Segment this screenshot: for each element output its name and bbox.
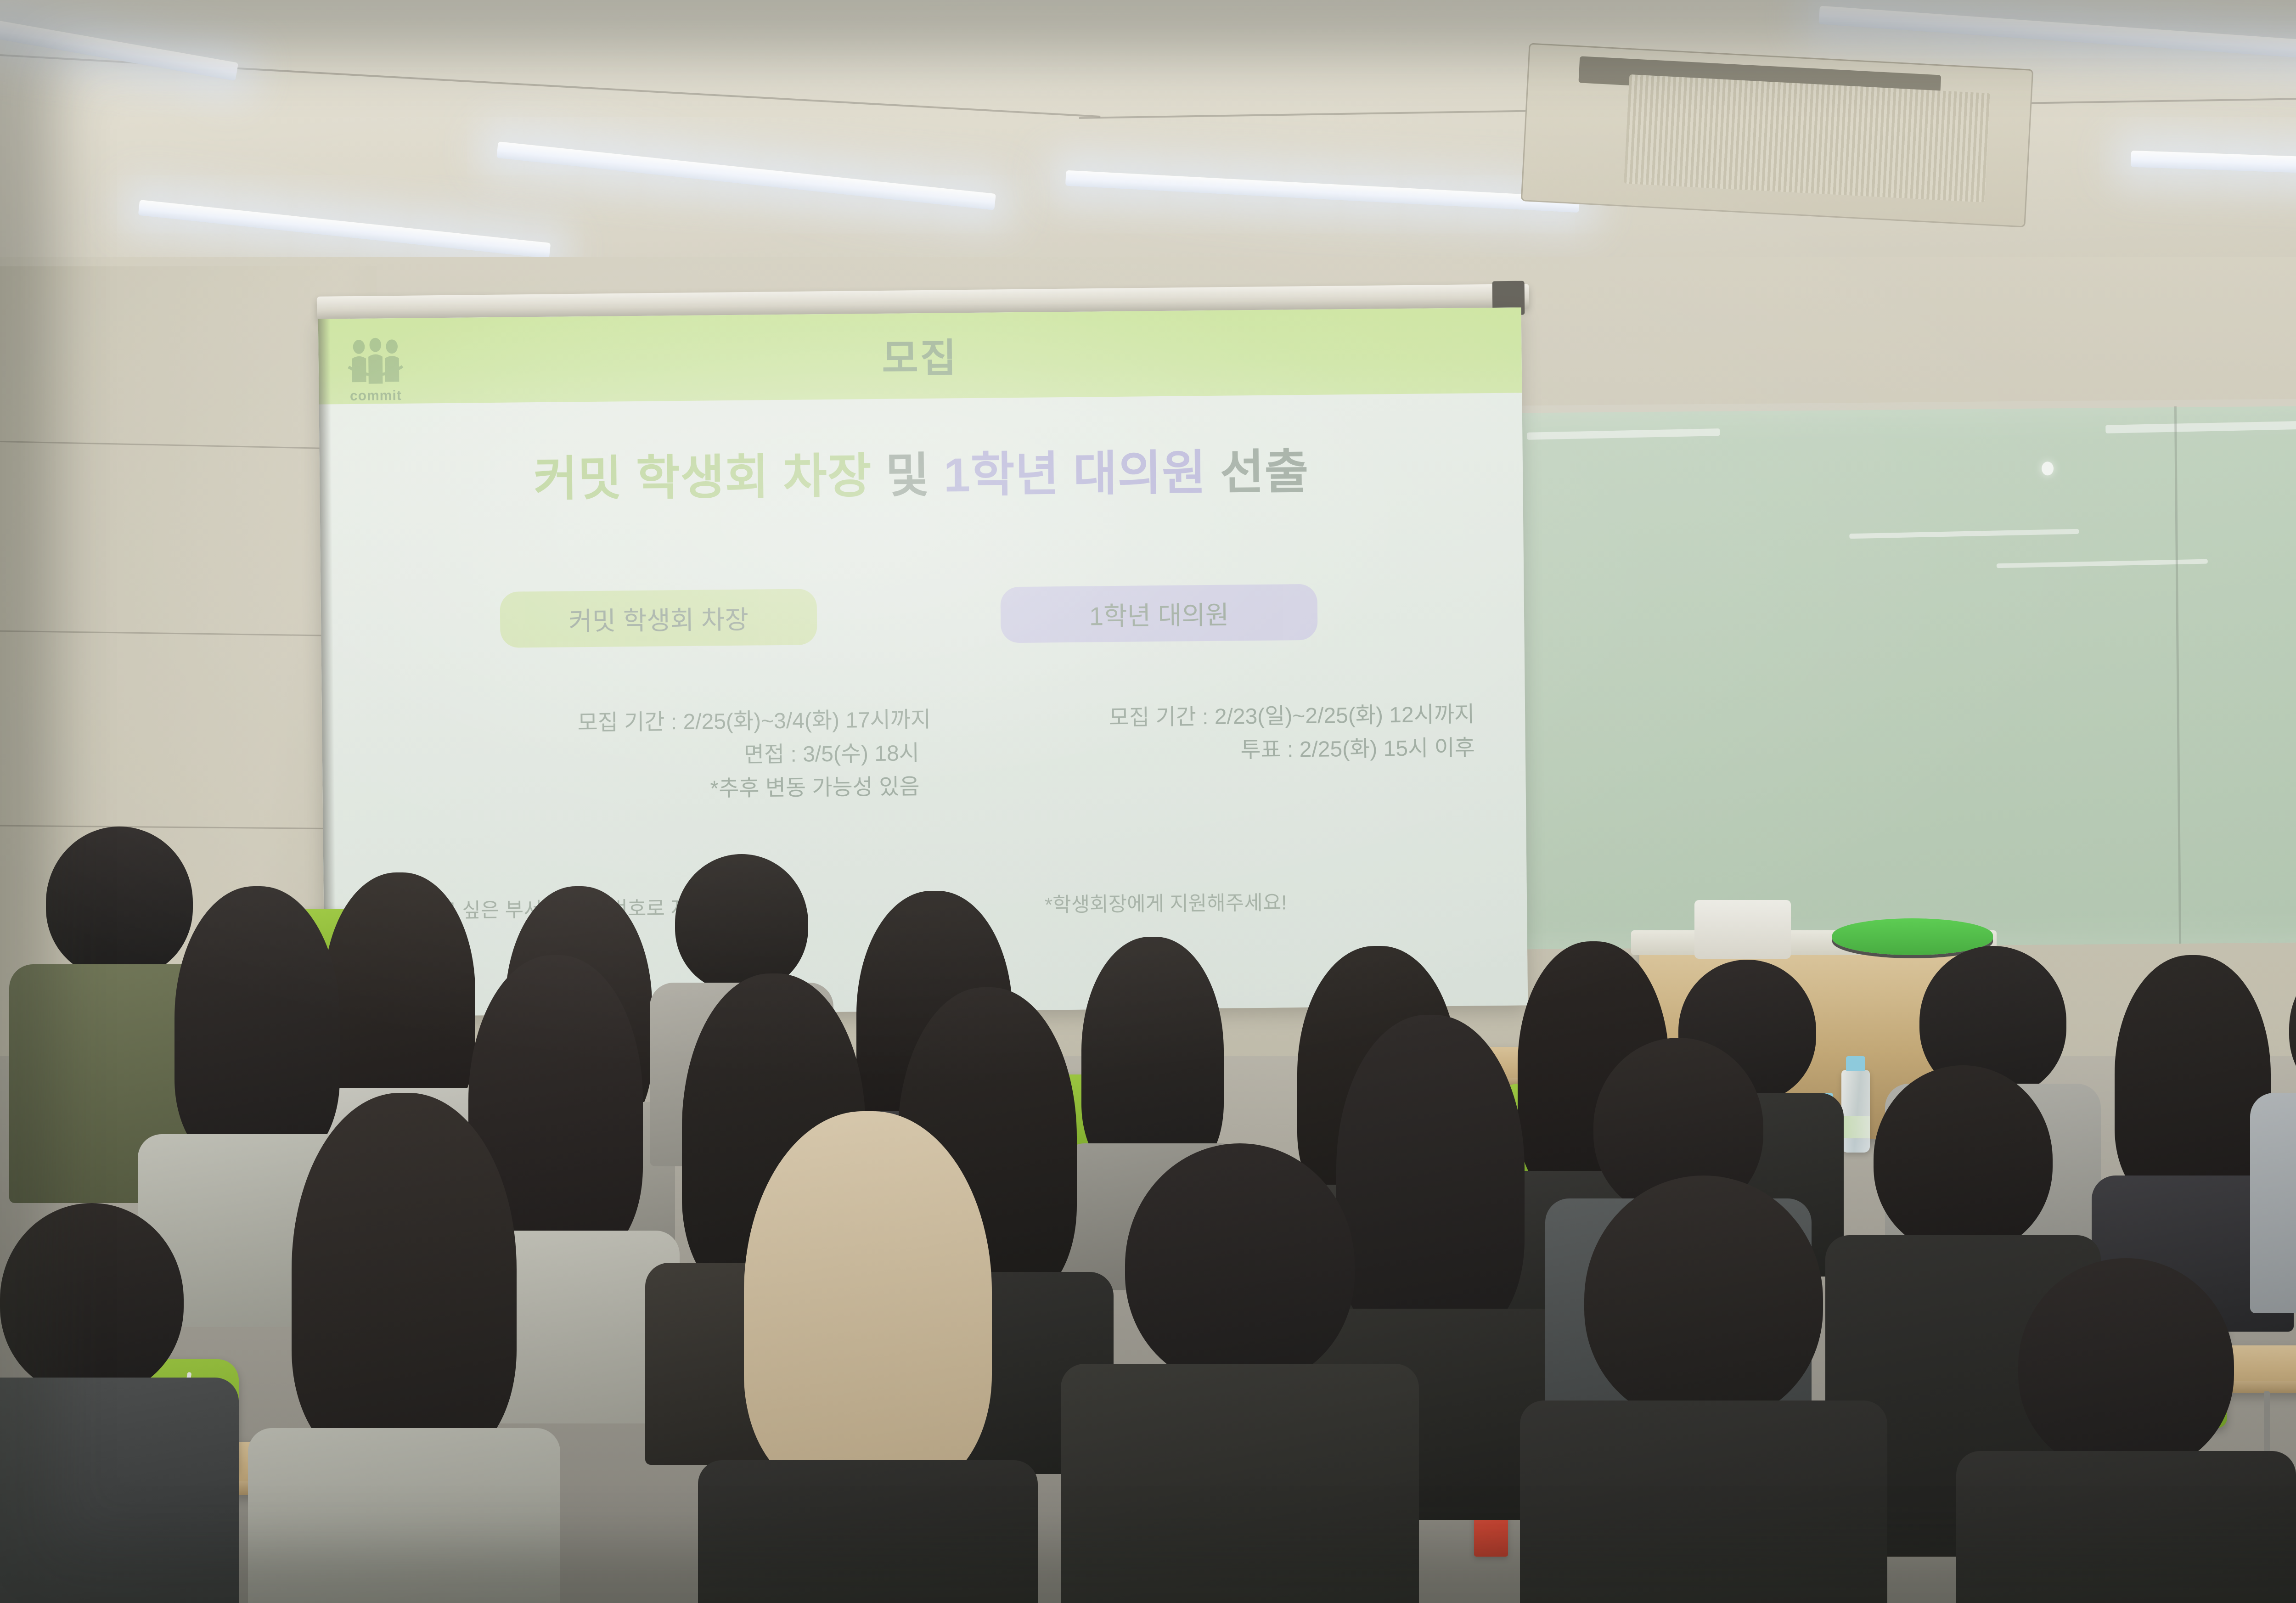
white-container — [1694, 900, 1791, 959]
pill-freshman-rep: 1학년 대의원 — [1000, 584, 1317, 643]
slide-headline: 커밋 학생회 차장 및 1학년 대의원 선출 — [319, 430, 1523, 511]
torso — [0, 1378, 239, 1603]
audience-member — [1093, 1143, 1387, 1603]
headline-part-1: 커밋 학생회 차장 — [533, 450, 872, 506]
head — [1584, 1176, 1823, 1423]
column-right-line-2: 투표 : 2/25(화) 15시 이후 — [961, 731, 1475, 770]
headline-part-3: 1학년 대의원 — [943, 446, 1206, 502]
classroom-green-board — [1499, 400, 2296, 950]
ac-grille — [1624, 74, 1991, 202]
hair — [2115, 955, 2271, 1203]
head — [2289, 951, 2296, 1107]
headline-part-4: 선출 — [1220, 445, 1309, 500]
torso — [698, 1460, 1038, 1603]
hair — [292, 1093, 517, 1460]
column-right-line-1: 모집 기간 : 2/23(일)~2/25(화) 12시까지 — [960, 698, 1475, 737]
column-left-line-2: 면접 : 3/5(수) 18시 — [405, 737, 920, 776]
lecture-hall-photo: commit 모집 커밋 학생회 차장 및 1학년 대의원 선출 커밋 학생회 … — [0, 0, 2296, 1603]
board-reflection — [1527, 428, 1720, 440]
slide-header-title: 모집 — [318, 320, 1522, 389]
audience-member — [0, 1203, 211, 1603]
audience-member — [1552, 1176, 1855, 1603]
audience-member — [726, 1111, 1010, 1603]
ceiling-ac-unit — [1521, 43, 2034, 227]
torso — [1520, 1401, 1887, 1603]
hair-blonde — [744, 1111, 992, 1488]
board-highlight-dot — [2042, 461, 2054, 475]
column-left-line-1: 모집 기간 : 2/25(화)~3/4(화) 17시까지 — [405, 703, 931, 742]
head — [1125, 1143, 1355, 1387]
torso — [1956, 1451, 2296, 1603]
hair — [1081, 937, 1224, 1176]
board-reflection — [1849, 529, 2079, 539]
head — [2018, 1258, 2234, 1474]
torso — [1061, 1364, 1419, 1603]
head — [1874, 1065, 2053, 1254]
head — [0, 1203, 184, 1396]
audience-member — [2268, 951, 2296, 1318]
audience-member — [1984, 1258, 2268, 1603]
column-left-line-3: *추후 변동 가능성 있음 — [405, 771, 920, 809]
headline-part-2: 및 — [885, 449, 930, 503]
slide-column-right: 모집 기간 : 2/23(일)~2/25(화) 12시까지 투표 : 2/25(… — [960, 698, 1475, 770]
slide-footnote-right: *학생회장에게 지원해주세요! — [1045, 886, 1287, 917]
head — [675, 854, 808, 992]
pill-council-deputy: 커밋 학생회 차장 — [500, 589, 817, 648]
audience-member — [276, 1093, 533, 1603]
slide-column-left: 모집 기간 : 2/25(화)~3/4(화) 17시까지 면접 : 3/5(수)… — [405, 703, 920, 809]
torso — [248, 1428, 560, 1603]
board-seam — [2174, 406, 2181, 944]
board-reflection — [2105, 416, 2296, 433]
logo-wordmark: commit — [345, 388, 406, 404]
